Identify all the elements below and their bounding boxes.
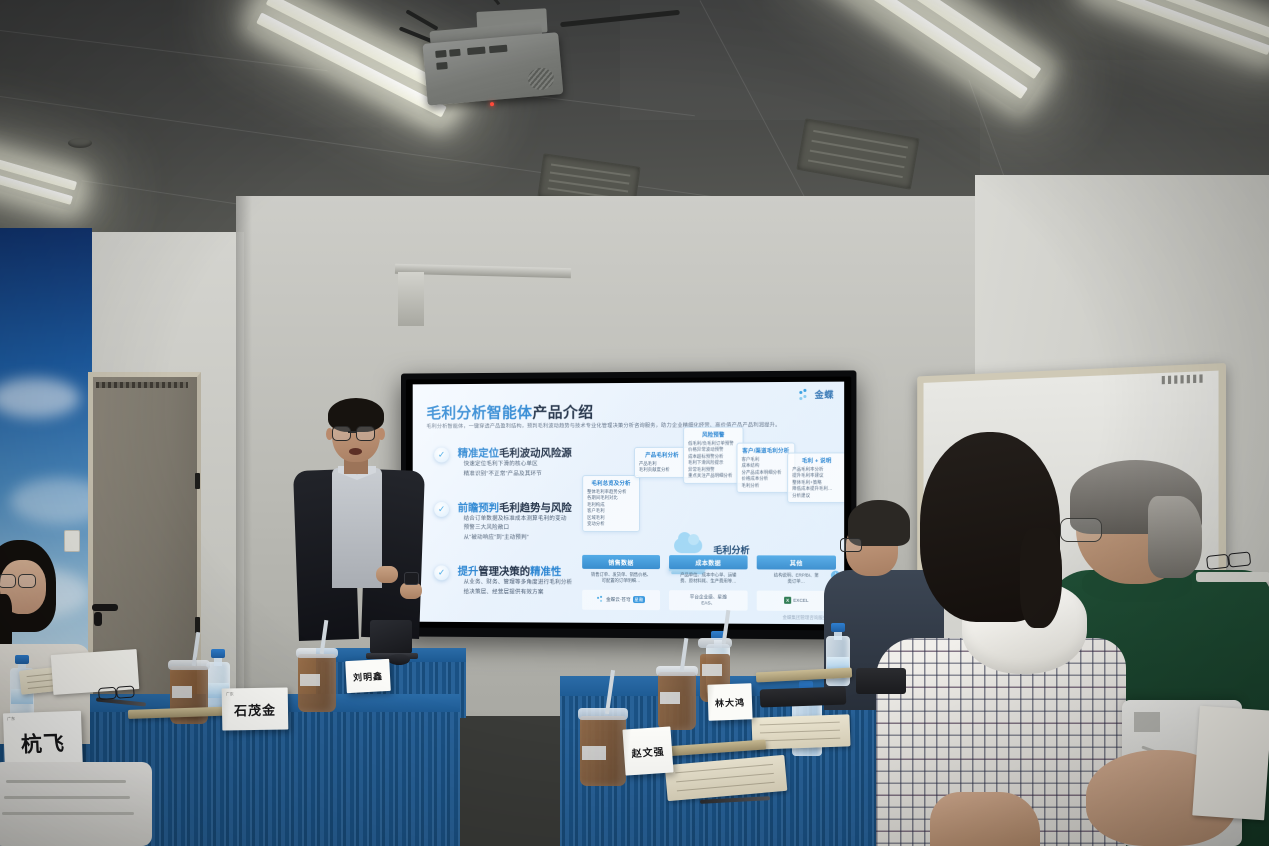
source-column-body: 产品单位、成本中心单、运输 费、原材料耗、生产费用等… [669, 572, 748, 585]
diagram-source-columns: 销售数据 销售订单、发货单、销售价格、 可配置的订单明细… 金蝶云·苍穹 星瀚 [582, 555, 836, 614]
bullet-heading-a: 前瞻预判 [458, 502, 499, 514]
glasses-bridge [348, 431, 357, 433]
papers [1192, 706, 1269, 821]
presenter-laptop[interactable] [368, 620, 414, 660]
presenter-shirt [332, 468, 382, 588]
diagram-card-body: 客户毛利 成本结构 分产品成本明细分析 价格成本分析 毛利分析 [742, 457, 791, 490]
chair-back [0, 762, 152, 846]
diagram-card: 风险预警 低毛利/负毛利订单预警 价格异常波动预警 成本超标预警分析 毛利下滑风… [683, 427, 743, 484]
presenter-mouth [349, 448, 362, 455]
check-icon: ✓ [434, 502, 449, 517]
whiteboard-brand-icon [1162, 374, 1204, 384]
bullet-heading-b: 管理决策的 [478, 565, 530, 577]
diagram-card-body: 低毛利/负毛利订单预警 价格异常波动预警 成本超标预警分析 毛利下滑风险提示 异… [688, 441, 738, 480]
excel-icon: X [784, 597, 791, 604]
source-column-header: 销售数据 [582, 555, 660, 569]
bullet-heading-a: 精准定位 [458, 447, 499, 459]
source-footer-text: 金蝶云·苍穹 [606, 597, 630, 603]
air-vent [796, 118, 919, 189]
presenter-ear [378, 428, 385, 440]
ceiling-projector [420, 6, 564, 110]
bullet-heading-b: 毛利波动风险源 [499, 447, 572, 459]
name-card: 刘明鑫 [345, 659, 391, 693]
source-column-header: 成本数据 [669, 555, 748, 569]
diagram-card: 产品毛利分析 产品毛利 毛利贡献度分析 [634, 447, 690, 478]
name-card-text: 赵文强 [631, 742, 665, 759]
ceiling-light-fixture [0, 144, 83, 212]
glasses-icon [356, 426, 375, 441]
name-card: 广东 石茂金 [222, 687, 289, 730]
ceiling-speaker [68, 138, 92, 148]
side-table [1196, 572, 1269, 582]
coffee-cup [578, 700, 628, 786]
slide-footer-note: 金蝶集团管理咨询服务 [783, 615, 828, 620]
diagram-card-body: 产品毛利率分析 提升毛利率建议 整体毛利+策略 降低成本提升毛利… 分析建议 [792, 467, 841, 500]
name-card-prefix: 广东 [7, 716, 15, 722]
source-column: 成本数据 产品单位、成本中心单、运输 费、原材料耗、生产费用等… 平台企业级、星… [669, 555, 748, 614]
glasses-icon [840, 538, 862, 552]
wall-conduit-box [398, 272, 424, 326]
wall-corner-shadow [236, 196, 252, 716]
glasses-icon [18, 574, 36, 588]
diagram-card-body: 整体毛利率趋势分析 各期间毛利对比 毛利构成 客户毛利 区域毛利 变动分析 [587, 489, 635, 528]
computer-mouse[interactable] [388, 654, 410, 665]
diagram-card-title: 客户/渠道毛利分析 [742, 447, 791, 455]
source-column-footer: 金蝶云·苍穹 星瀚 [582, 590, 660, 610]
check-icon: ✓ [434, 448, 449, 463]
name-card: 赵文强 [622, 726, 673, 775]
source-footer-badge: 星瀚 [633, 596, 645, 603]
coffee-cup [296, 640, 338, 712]
ceiling-light-fixture [1083, 0, 1269, 63]
source-footer-text: 平台企业级、星瀚 EAS、 [690, 594, 727, 606]
source-column: 销售数据 销售订单、发货单、销售价格、 可配置的订单明细… 金蝶云·苍穹 星瀚 [582, 555, 660, 613]
attendee-hair-strand [1020, 528, 1062, 628]
source-column-body: 销售订单、发货单、销售价格、 可配置的订单明细… [582, 572, 660, 585]
presenter-hand [376, 566, 398, 583]
slide-title: 毛利分析智能体产品介绍 [426, 401, 593, 423]
slide-title-rest: 产品介绍 [532, 404, 593, 421]
diagram-card-title: 毛利 + 说明 [792, 456, 841, 464]
name-card-text: 林大鸿 [715, 695, 745, 709]
diagram-card-title: 产品毛利分析 [639, 451, 685, 459]
diagram-card: 毛利总览及分析 整体毛利率趋势分析 各期间毛利对比 毛利构成 客户毛利 区域毛利… [582, 475, 640, 532]
kingdee-logo: 金蝶 [799, 388, 834, 401]
glasses-icon [0, 574, 16, 588]
source-column-footer: 平台企业级、星瀚 EAS、 [669, 590, 748, 610]
presentation-display: 金蝶 毛利分析智能体产品介绍 毛利分析智能体，一键穿透产品盈利结构，预判毛利波动… [401, 370, 856, 639]
kingdee-logo-icon [597, 596, 604, 603]
presenter [292, 398, 432, 658]
coffee-cup [656, 658, 698, 730]
bullet-heading-c: 精准性 [530, 566, 561, 578]
tray-holder [760, 687, 847, 708]
name-card: 林大鸿 [707, 683, 752, 721]
diagram-card-title: 风险预警 [688, 431, 738, 439]
name-card-text: 杭飞 [20, 727, 65, 759]
source-column-body: 结构说明、ERP/BI、第 类订单… [757, 572, 836, 585]
diagram-card-title: 毛利总览及分析 [587, 479, 635, 487]
wristwatch [404, 572, 419, 585]
kingdee-logo-text: 金蝶 [815, 388, 834, 401]
equipment-box [856, 668, 906, 694]
conference-room-scene: 金蝶 毛利分析智能体产品介绍 毛利分析智能体，一键穿透产品盈利结构，预判毛利波动… [0, 0, 1269, 846]
slide-content: 金蝶 毛利分析智能体产品介绍 毛利分析智能体，一键穿透产品盈利结构，预判毛利波动… [413, 382, 844, 625]
attendee-hand [930, 792, 1040, 846]
name-card-text: 石茂金 [234, 699, 276, 719]
slide-diagram: 毛利总览及分析 整体毛利率趋势分析 各期间毛利对比 毛利构成 客户毛利 区域毛利… [582, 428, 836, 620]
slide-title-highlight: 毛利分析智能体 [426, 404, 532, 421]
source-column-header: 其他 [757, 555, 836, 569]
projector-vent [527, 67, 555, 91]
notepad [751, 714, 850, 749]
name-card-prefix: 广东 [226, 691, 234, 697]
door-vent [96, 382, 188, 388]
bullet-heading-a: 提升 [458, 565, 479, 577]
glasses-icon [332, 426, 351, 441]
attendee-hair-side [1148, 496, 1202, 578]
diagram-card-body: 产品毛利 毛利贡献度分析 [639, 461, 685, 474]
projector-power-led [490, 102, 494, 106]
source-footer-text: EXCEL [793, 598, 808, 603]
diagram-card: 毛利 + 说明 产品毛利率分析 提升毛利率建议 整体毛利+策略 降低成本提升毛利… [787, 452, 844, 503]
bullet-heading-b: 毛利趋势与风险 [499, 502, 572, 514]
chair-tag [1134, 712, 1160, 732]
name-card-text: 刘明鑫 [353, 669, 384, 684]
check-icon: ✓ [434, 565, 449, 580]
kingdee-logo-icon [799, 388, 811, 400]
